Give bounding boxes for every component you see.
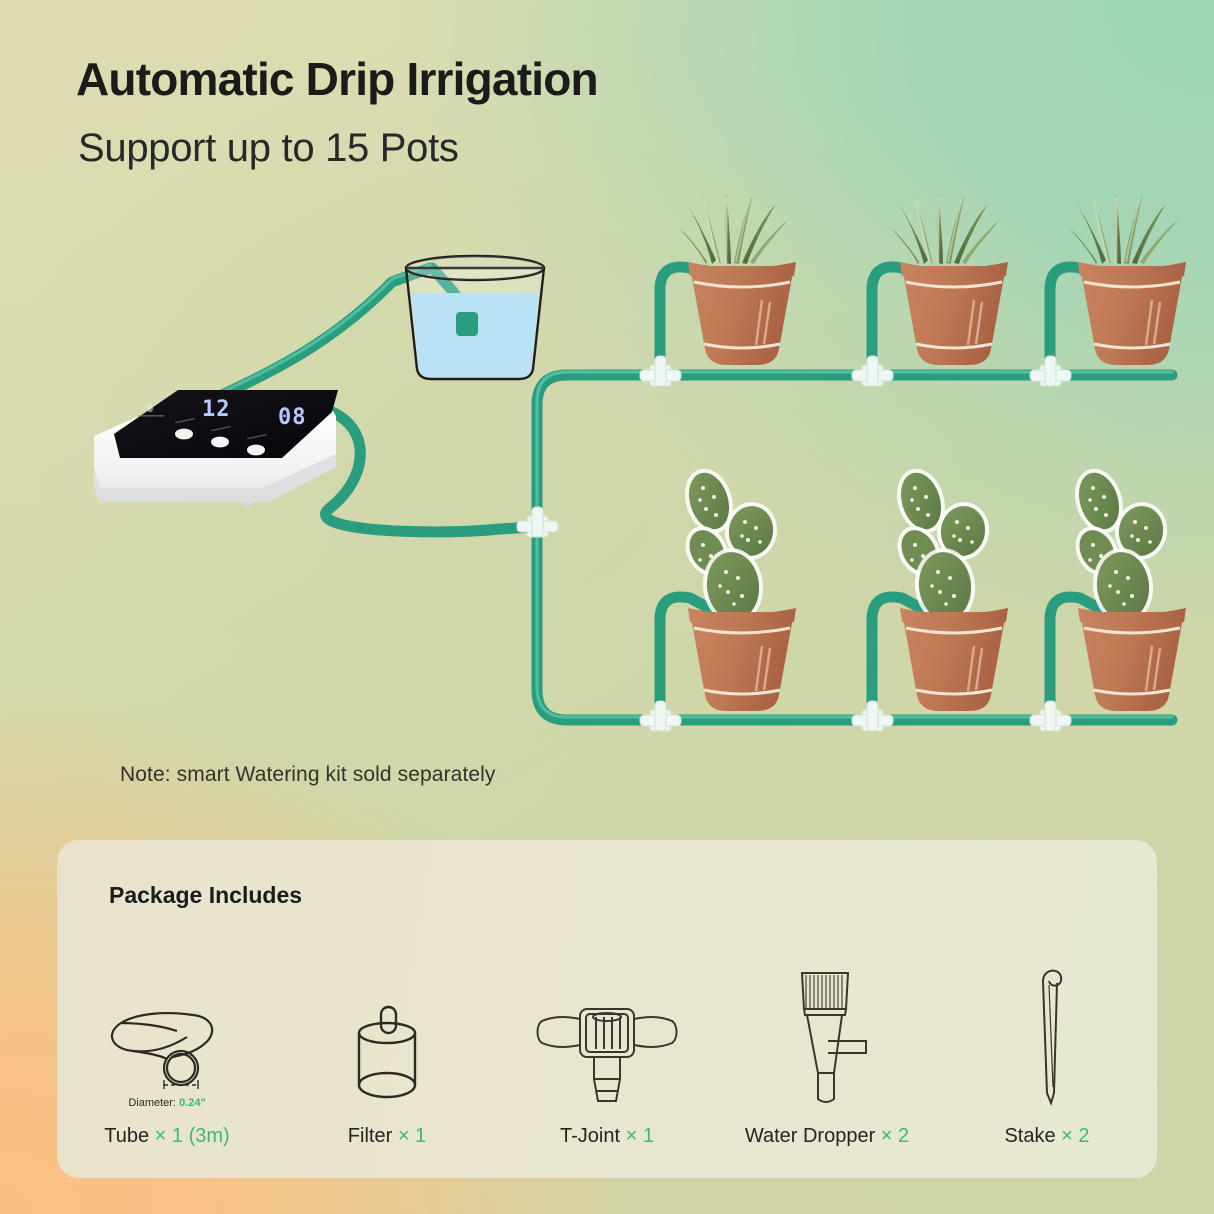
display-left-value: 12 — [202, 397, 231, 422]
t-joint-connector — [640, 356, 681, 386]
tube-art — [97, 949, 237, 1101]
water-dropper-art — [762, 957, 892, 1109]
plant-pot-top-1 — [679, 194, 796, 365]
package-includes-card: Package Includes — [57, 840, 1157, 1178]
device-button-3[interactable] — [247, 445, 265, 456]
item-name: Filter — [348, 1125, 392, 1147]
package-item-water-dropper: Water Dropper × 2 — [727, 918, 927, 1148]
plant-pot-bottom-3 — [1067, 463, 1186, 711]
item-qty: 1 — [415, 1125, 426, 1147]
snake-plant-leaves — [679, 194, 788, 264]
tube-diameter-label: Diameter: 0.24" — [128, 1097, 205, 1109]
item-x: × — [398, 1125, 410, 1147]
plant-pot-top-3 — [1069, 194, 1186, 365]
package-item-tube: Diameter: 0.24" Tube × 1 (3m) — [67, 918, 267, 1148]
package-items-row: Diameter: 0.24" Tube × 1 (3m) — [57, 918, 1157, 1148]
stake-art — [1007, 957, 1087, 1109]
plant-pot-top-2 — [891, 194, 1008, 365]
package-item-stake-label: Stake × 2 — [1004, 1125, 1089, 1148]
irrigation-controller-device[interactable]: 12 08 — [92, 372, 350, 522]
item-x: × — [155, 1125, 167, 1147]
filter-icon — [332, 989, 442, 1109]
tube-main-trunk-lower — [537, 527, 1172, 720]
item-qty: 2 — [898, 1125, 909, 1147]
page-title: Automatic Drip Irrigation — [76, 52, 598, 106]
package-item-water-dropper-label: Water Dropper × 2 — [745, 1125, 909, 1148]
tube-diameter-value: 0.24" — [179, 1097, 206, 1109]
item-qty: 1 — [643, 1125, 654, 1147]
t-joint-art — [522, 957, 692, 1109]
package-item-stake: Stake × 2 — [947, 918, 1147, 1148]
item-name: Tube — [104, 1125, 149, 1147]
package-item-tjoint-label: T-Joint × 1 — [560, 1125, 654, 1148]
display-right-digits: 08 — [278, 405, 307, 430]
item-name: Water Dropper — [745, 1125, 875, 1147]
item-x: × — [881, 1125, 893, 1147]
package-includes-title: Package Includes — [109, 882, 302, 909]
t-joint-connector — [1030, 701, 1071, 731]
filter-art — [332, 957, 442, 1109]
item-x: × — [1061, 1125, 1073, 1147]
item-name: T-Joint — [560, 1125, 620, 1147]
package-item-tjoint: T-Joint × 1 — [507, 918, 707, 1148]
page-subtitle: Support up to 15 Pots — [78, 126, 459, 171]
tube-diameter-prefix: Diameter: — [128, 1097, 176, 1109]
device-button-2[interactable] — [211, 437, 229, 448]
item-qty: 1 (3m) — [172, 1125, 230, 1147]
note-text: Note: smart Watering kit sold separately — [120, 763, 496, 787]
item-name: Stake — [1004, 1125, 1055, 1147]
t-joint-connector — [1030, 356, 1071, 386]
t-joint-connector — [640, 701, 681, 731]
t-joint-icon — [522, 983, 692, 1109]
plant-pot-bottom-2 — [889, 463, 1008, 711]
t-joint-connector — [852, 356, 893, 386]
item-x: × — [626, 1125, 638, 1147]
filter-in-bucket — [456, 312, 478, 336]
tube-controller-to-main — [326, 412, 532, 532]
water-dropper-icon — [762, 959, 892, 1109]
stake-icon — [1007, 957, 1087, 1109]
package-item-tube-label: Tube × 1 (3m) — [104, 1125, 229, 1148]
item-qty: 2 — [1078, 1125, 1089, 1147]
display-right-value: 08 — [278, 405, 307, 430]
snake-plant-leaves — [891, 194, 1000, 264]
device-button-1[interactable] — [175, 429, 193, 440]
t-joint-connector-main — [517, 507, 558, 537]
t-joint-connector — [852, 701, 893, 731]
tube-icon — [97, 993, 237, 1101]
package-item-filter: Filter × 1 — [287, 918, 487, 1148]
display-left-digits: 12 — [202, 397, 231, 422]
package-item-filter-label: Filter × 1 — [348, 1125, 426, 1148]
snake-plant-leaves — [1069, 194, 1178, 264]
water-bucket — [406, 256, 544, 379]
plant-pot-bottom-1 — [677, 463, 796, 711]
